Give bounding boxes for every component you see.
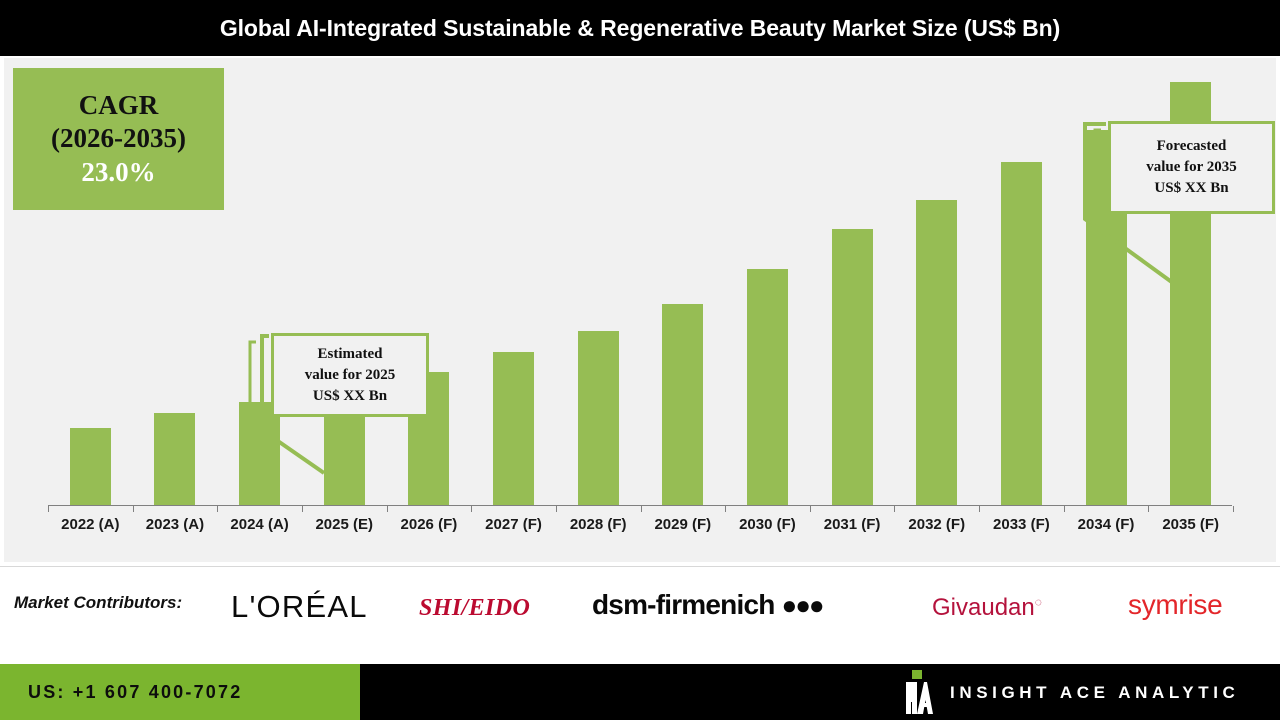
symrise-logo-text: symrise [1128,589,1222,620]
chart-plot-region: CAGR (2026-2035) 23.0% 2022 (A)2023 (A)2… [4,58,1276,562]
title-bar: Global AI-Integrated Sustainable & Regen… [0,0,1280,56]
callout-line-1: Forecasted [1157,136,1227,157]
givaudan-circle-icon: ◌ [1035,595,1042,609]
callout-line-1: Estimated [318,344,383,365]
insight-ace-analytic-logo-icon [903,670,933,714]
chart-panel: CAGR (2026-2035) 23.0% 2022 (A)2023 (A)2… [0,56,1280,566]
leader-bracket-2025 [250,342,256,424]
callout-line-2: value for 2035 [1146,157,1237,178]
givaudan-logo: Givaudan◌ [932,594,1042,622]
callout-line-3: US$ XX Bn [1154,178,1228,199]
dsm-firmenich-logo-text: dsm-firmenich [592,589,775,620]
footer-phone-number[interactable]: US: +1 607 400-7072 [28,682,242,703]
dsm-firmenich-dots-icon: ●●● [782,590,823,620]
loreal-logo: L'ORÉAL [231,589,368,625]
callout-estimated-2025: Estimated value for 2025 US$ XX Bn [271,333,429,417]
contributors-label: Market Contributors: [14,593,182,613]
shiseido-logo-text: SHI/EIDO [419,595,530,621]
page-title: Global AI-Integrated Sustainable & Regen… [220,15,1060,42]
dsm-firmenich-logo: dsm-firmenich ●●● [592,589,823,621]
footer-phone-block[interactable]: US: +1 607 400-7072 [0,664,360,720]
market-contributors-strip: Market Contributors: L'ORÉAL SHI/EIDO ds… [0,566,1280,664]
callout-leader-lines [4,58,1280,568]
symrise-logo: symrise [1128,589,1222,621]
leader-bracket-2035 [1095,130,1101,213]
callout-forecasted-2035: Forecasted value for 2035 US$ XX Bn [1108,121,1275,214]
shiseido-logo: SHI/EIDO [419,595,530,622]
callout-line-2: value for 2025 [305,365,396,386]
givaudan-logo-text: Givaudan [932,594,1035,621]
loreal-logo-text: L'ORÉAL [231,589,368,624]
callout-line-3: US$ XX Bn [313,386,387,407]
brand-name: INSIGHT ACE ANALYTIC [950,683,1239,703]
